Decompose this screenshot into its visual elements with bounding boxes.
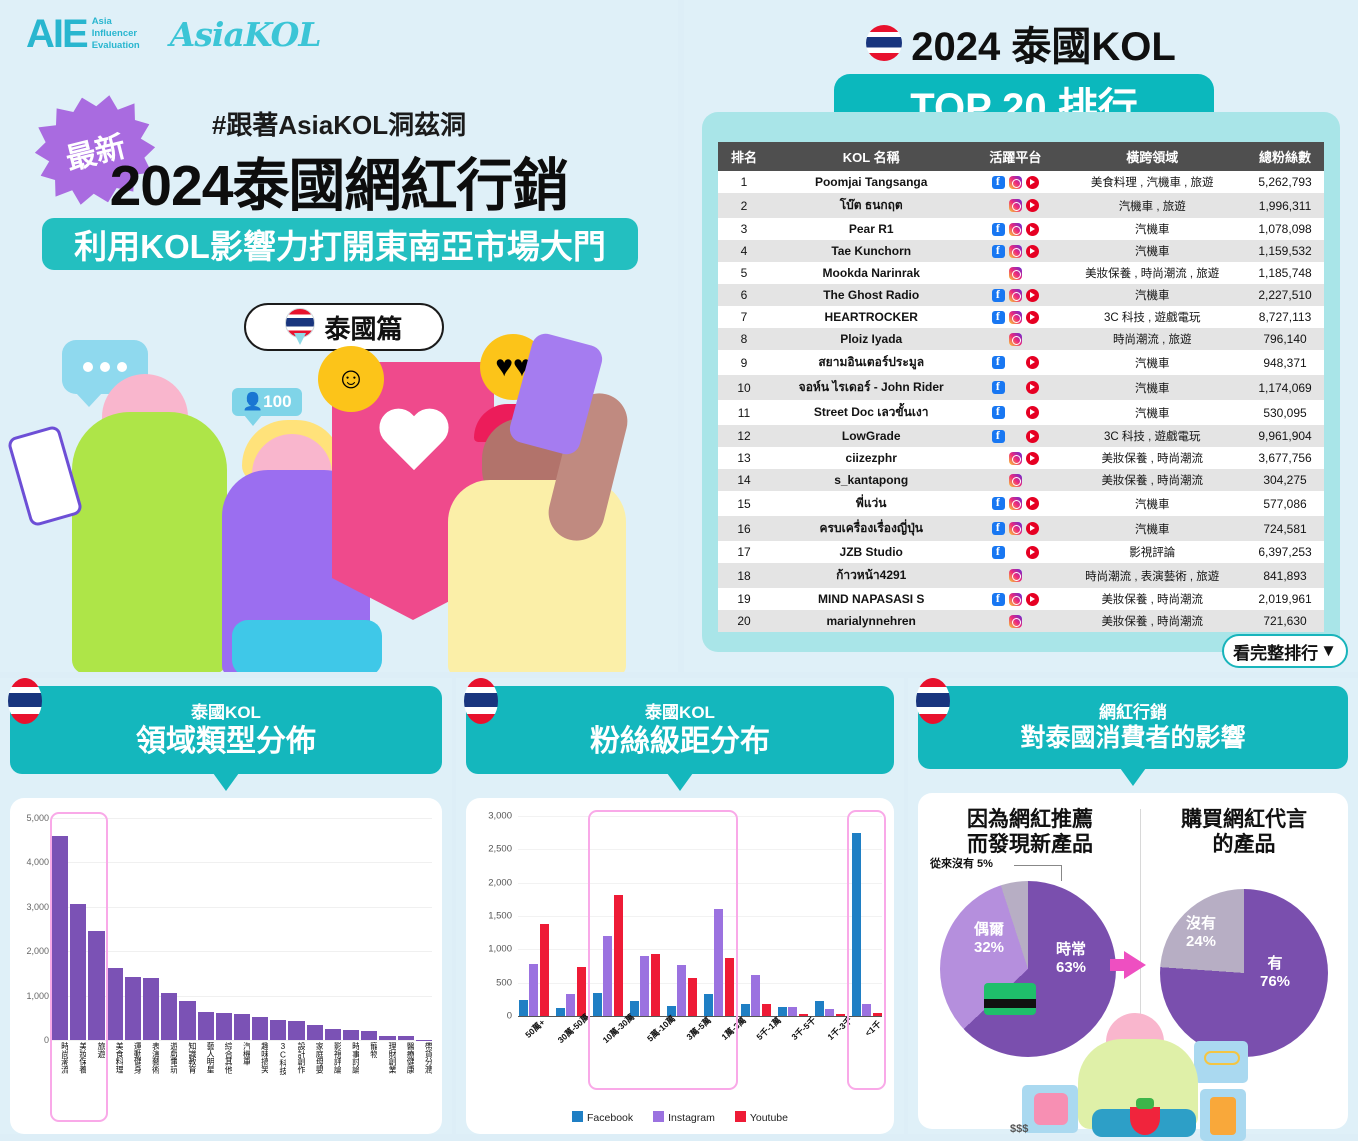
chart1-bar bbox=[52, 836, 68, 1040]
page-title: 2024泰國網紅行銷 bbox=[0, 140, 678, 222]
chart1-x-labels: 時尚潮流美妝保養旅遊美食料理運動健身表演藝術遊戲電玩知識教育藝人明星綜合其他汽機… bbox=[52, 1042, 432, 1130]
instagram-icon bbox=[1009, 497, 1022, 510]
youtube-icon bbox=[1026, 381, 1039, 394]
cell-platforms bbox=[972, 375, 1058, 400]
facebook-icon bbox=[992, 381, 1005, 394]
table-row[interactable]: 1Poomjai Tangsanga美食料理 , 汽機車 , 旅遊5,262,7… bbox=[718, 171, 1324, 193]
pie2-main-label-value: 76% bbox=[1248, 973, 1302, 991]
pie2-title-line1: 購買網紅代言 bbox=[1146, 807, 1342, 833]
cell-domains: 3C 科技 , 遊戲電玩 bbox=[1058, 425, 1246, 447]
chart2-y-tick: 500 bbox=[496, 977, 512, 988]
cell-rank: 9 bbox=[718, 350, 770, 375]
facebook-icon bbox=[992, 223, 1005, 236]
chart1-bar bbox=[398, 1036, 414, 1040]
instagram-icon bbox=[1009, 245, 1022, 258]
chart1-bar bbox=[361, 1031, 377, 1040]
cell-rank: 19 bbox=[718, 588, 770, 610]
pie2-second-label: 沒有 24% bbox=[1170, 915, 1232, 952]
pie1-main-label-value: 63% bbox=[1036, 959, 1106, 977]
chart2-y-tick: 1,500 bbox=[488, 911, 512, 922]
cell-followers: 796,140 bbox=[1246, 328, 1324, 350]
card3-header: 網紅行銷 對泰國消費者的影響 bbox=[918, 686, 1348, 769]
chart1-x-label: 家庭母嬰 bbox=[307, 1042, 323, 1130]
col-domains: 橫跨領域 bbox=[1058, 142, 1246, 171]
cell-rank: 17 bbox=[718, 541, 770, 563]
chart2-y-tick: 2,500 bbox=[488, 844, 512, 855]
chart2-bar bbox=[529, 964, 538, 1016]
table-row[interactable]: 7HEARTROCKER3C 科技 , 遊戲電玩8,727,113 bbox=[718, 306, 1324, 328]
instagram-icon bbox=[1009, 452, 1022, 465]
table-row[interactable]: 19MIND NAPASASI S美妝保養 , 時尚潮流2,019,961 bbox=[718, 588, 1324, 610]
table-row[interactable]: 8Ploiz Iyada時尚潮流 , 旅遊796,140 bbox=[718, 328, 1324, 350]
hero-illustration: 👤100 ☺ ♥♥ bbox=[0, 352, 678, 672]
cell-platforms bbox=[972, 400, 1058, 425]
cell-rank: 7 bbox=[718, 306, 770, 328]
cell-rank: 14 bbox=[718, 469, 770, 491]
chart1-bar bbox=[379, 1036, 395, 1040]
instagram-icon bbox=[1009, 474, 1022, 487]
chart2-legend-item: Youtube bbox=[735, 1111, 788, 1124]
cell-platforms bbox=[972, 284, 1058, 306]
cell-domains: 美妝保養 , 時尚潮流 bbox=[1058, 588, 1246, 610]
table-row[interactable]: 16ครบเครื่องเรื่องญี่ปุ่น汽機車724,581 bbox=[718, 516, 1324, 541]
youtube-icon bbox=[1026, 245, 1039, 258]
facebook-icon bbox=[992, 199, 1005, 212]
chart1-x-label: 影視評論 bbox=[325, 1042, 341, 1130]
chart1-x-label: 汽機車 bbox=[234, 1042, 250, 1130]
youtube-icon bbox=[1026, 474, 1039, 487]
chart1-y-axis: 01,0002,0003,0004,0005,000 bbox=[10, 818, 52, 1040]
cell-domains: 汽機車 bbox=[1058, 350, 1246, 375]
card1-title: 領域類型分佈 bbox=[18, 725, 434, 758]
card2-subtitle: 泰國KOL bbox=[474, 698, 886, 723]
cell-domains: 3C 科技 , 遊戲電玩 bbox=[1058, 306, 1246, 328]
cell-followers: 1,174,069 bbox=[1246, 375, 1324, 400]
cell-domains: 汽機車 bbox=[1058, 218, 1246, 240]
aie-logo: AIE Asia Influencer Evaluation bbox=[26, 14, 140, 54]
chart2-bar bbox=[751, 975, 760, 1016]
cell-platforms bbox=[972, 469, 1058, 491]
table-row[interactable]: 13ciizezphr美妝保養 , 時尚潮流3,677,756 bbox=[718, 447, 1324, 469]
instagram-icon bbox=[1009, 356, 1022, 369]
cell-rank: 1 bbox=[718, 171, 770, 193]
chart2-y-tick: 3,000 bbox=[488, 811, 512, 822]
table-header-row: 排名 KOL 名稱 活躍平台 橫跨領域 總粉絲數 bbox=[718, 142, 1324, 171]
consumer-impact-card: 網紅行銷 對泰國消費者的影響 因為網紅推薦 而發現新產品 購買網紅代言 的產品 … bbox=[908, 678, 1358, 1134]
chart1-bar bbox=[161, 993, 177, 1040]
chart1-plot-area bbox=[52, 818, 432, 1040]
thailand-flag-icon bbox=[866, 25, 902, 61]
ranking-table-body: 1Poomjai Tangsanga美食料理 , 汽機車 , 旅遊5,262,7… bbox=[718, 171, 1324, 632]
youtube-icon bbox=[1026, 452, 1039, 465]
chart1-gridline bbox=[52, 1040, 432, 1041]
pie2-second-label-text: 沒有 bbox=[1170, 915, 1232, 933]
ranking-panel: 2024 泰國KOL TOP 20 排行 排名 KOL 名稱 活躍平台 橫跨領域… bbox=[684, 0, 1358, 672]
chart1-x-label: 藝人明星 bbox=[198, 1042, 214, 1130]
cell-rank: 13 bbox=[718, 447, 770, 469]
chart1-x-label: 遊戲電玩 bbox=[161, 1042, 177, 1130]
chart1-x-label: 綜合其他 bbox=[216, 1042, 232, 1130]
card3-subtitle: 網紅行銷 bbox=[926, 698, 1340, 723]
thailand-flag-icon bbox=[464, 678, 498, 724]
cell-rank: 4 bbox=[718, 240, 770, 262]
card3-arrow bbox=[1120, 768, 1146, 786]
cell-followers: 841,893 bbox=[1246, 563, 1324, 588]
asiakol-logo: AsiaKOL bbox=[170, 15, 321, 54]
cell-name: MIND NAPASASI S bbox=[770, 588, 972, 610]
chart1-x-label: 醫療健康 bbox=[398, 1042, 414, 1130]
cell-domains: 汽機車 bbox=[1058, 375, 1246, 400]
table-row[interactable]: 17JZB Studio影視評論6,397,253 bbox=[718, 541, 1324, 563]
chart2-legend-item: Facebook bbox=[572, 1111, 633, 1124]
pie1-title-line1: 因為網紅推薦 bbox=[932, 807, 1128, 833]
chart2-bar bbox=[677, 965, 686, 1016]
table-row[interactable]: 10จอห์น ไรเดอร์ - John Rider汽機車1,174,069 bbox=[718, 375, 1324, 400]
table-row[interactable]: 6The Ghost Radio汽機車2,227,510 bbox=[718, 284, 1324, 306]
cell-domains: 美妝保養 , 時尚潮流 , 旅遊 bbox=[1058, 262, 1246, 284]
cell-followers: 577,086 bbox=[1246, 491, 1324, 516]
pie1-never-callout: 從來沒有 5% bbox=[930, 855, 993, 871]
facebook-icon bbox=[992, 406, 1005, 419]
table-row[interactable]: 14s_kantapong美妝保養 , 時尚潮流304,275 bbox=[718, 469, 1324, 491]
cell-platforms bbox=[972, 425, 1058, 447]
chart1-x-label: 旅遊 bbox=[88, 1042, 104, 1130]
credit-card-icon bbox=[984, 983, 1036, 1015]
cell-platforms bbox=[972, 541, 1058, 563]
cell-followers: 721,630 bbox=[1246, 610, 1324, 632]
chart2-y-tick: 1,000 bbox=[488, 944, 512, 955]
chart2-group bbox=[740, 816, 771, 1016]
cell-domains: 影視評論 bbox=[1058, 541, 1246, 563]
cell-followers: 1,078,098 bbox=[1246, 218, 1324, 240]
legend-swatch bbox=[653, 1111, 664, 1122]
cell-name: ครบเครื่องเรื่องญี่ปุ่น bbox=[770, 516, 972, 541]
cell-rank: 15 bbox=[718, 491, 770, 516]
chart1-x-label: 時事討論 bbox=[343, 1042, 359, 1130]
instagram-icon bbox=[1009, 267, 1022, 280]
facebook-icon bbox=[992, 333, 1005, 346]
cell-name: JZB Studio bbox=[770, 541, 972, 563]
cell-followers: 724,581 bbox=[1246, 516, 1324, 541]
table-row[interactable]: 11Street Doc เลวขั้นเงา汽機車530,095 bbox=[718, 400, 1324, 425]
smiley-emoji-icon: ☺ bbox=[318, 346, 384, 412]
facebook-icon bbox=[992, 593, 1005, 606]
table-row[interactable]: 12LowGrade3C 科技 , 遊戲電玩9,961,904 bbox=[718, 425, 1324, 447]
chart2-legend: FacebookInstagramYoutube bbox=[466, 1111, 894, 1124]
chart1-bar bbox=[107, 968, 123, 1040]
card1-subtitle: 泰國KOL bbox=[18, 698, 434, 723]
chart1-bar bbox=[307, 1025, 323, 1040]
thailand-flag-icon bbox=[916, 678, 950, 724]
youtube-icon bbox=[1026, 497, 1039, 510]
region-pill: 泰國篇 bbox=[244, 303, 444, 351]
transition-arrow-icon bbox=[1124, 951, 1146, 979]
table-row[interactable]: 4Tae Kunchorn汽機車1,159,532 bbox=[718, 240, 1324, 262]
chart2-group bbox=[666, 816, 697, 1016]
cell-followers: 948,371 bbox=[1246, 350, 1324, 375]
chart2-y-axis: 05001,0001,5002,0002,5003,000 bbox=[466, 816, 516, 1016]
chart2-group bbox=[814, 816, 845, 1016]
cell-rank: 11 bbox=[718, 400, 770, 425]
chart2-plot-area bbox=[518, 816, 882, 1016]
chart1-bar bbox=[88, 931, 104, 1040]
cell-rank: 8 bbox=[718, 328, 770, 350]
cell-domains: 美食料理 , 汽機車 , 旅遊 bbox=[1058, 171, 1246, 193]
chart2-bar bbox=[519, 1000, 528, 1016]
chart1-y-tick: 3,000 bbox=[26, 902, 49, 912]
pie2-title-line2: 的產品 bbox=[1146, 832, 1342, 858]
table-row[interactable]: 18ก้าวหน้า4291時尚潮流 , 表演藝術 , 旅遊841,893 bbox=[718, 563, 1324, 588]
cell-domains: 汽機車 bbox=[1058, 516, 1246, 541]
card3-title: 對泰國消費者的影響 bbox=[926, 725, 1340, 753]
cell-name: The Ghost Radio bbox=[770, 284, 972, 306]
instagram-icon bbox=[1009, 546, 1022, 559]
facebook-icon bbox=[992, 289, 1005, 302]
cell-followers: 2,019,961 bbox=[1246, 588, 1324, 610]
facebook-icon bbox=[992, 474, 1005, 487]
youtube-icon bbox=[1026, 267, 1039, 280]
pie1-callout-leader-line bbox=[1014, 865, 1062, 881]
chart1-bar bbox=[125, 977, 141, 1040]
person2-jeans bbox=[232, 620, 382, 672]
cell-name: marialynnehren bbox=[770, 610, 972, 632]
pie1-main-label: 時常 63% bbox=[1036, 941, 1106, 978]
chevron-down-icon: ▼ bbox=[1320, 641, 1337, 661]
aie-word-asia: Asia bbox=[92, 16, 140, 28]
card2-arrow bbox=[667, 773, 693, 791]
chart1-x-label: 趣味搞笑 bbox=[252, 1042, 268, 1130]
col-rank: 排名 bbox=[718, 142, 770, 171]
heart-icon bbox=[376, 410, 452, 480]
chart3-plot: 因為網紅推薦 而發現新產品 購買網紅代言 的產品 從來沒有 5% 時常 63% … bbox=[918, 793, 1348, 1129]
chart2-bar bbox=[593, 993, 602, 1016]
instagram-icon bbox=[1009, 522, 1022, 535]
instagram-icon bbox=[1009, 430, 1022, 443]
youtube-icon bbox=[1026, 176, 1039, 189]
chart1-y-tick: 5,000 bbox=[26, 813, 49, 823]
chart2-bar bbox=[714, 909, 723, 1016]
chart2-bar bbox=[862, 1004, 871, 1016]
ranking-title: 2024 泰國KOL bbox=[911, 14, 1176, 72]
cell-rank: 20 bbox=[718, 610, 770, 632]
chart2-bar bbox=[640, 956, 649, 1016]
cell-platforms bbox=[972, 491, 1058, 516]
pie1-second-label-text: 偶爾 bbox=[956, 921, 1022, 939]
youtube-icon bbox=[1026, 289, 1039, 302]
youtube-icon bbox=[1026, 522, 1039, 535]
cell-name: ciizezphr bbox=[770, 447, 972, 469]
ranking-title-row: 2024 泰國KOL bbox=[684, 14, 1358, 72]
chart1-x-label: 3C科技 bbox=[270, 1042, 286, 1130]
chart2-y-tick: 2,000 bbox=[488, 877, 512, 888]
youtube-icon bbox=[1026, 311, 1039, 324]
pie2-main-label-text: 有 bbox=[1248, 955, 1302, 973]
chart2-bar bbox=[788, 1007, 797, 1016]
instagram-icon bbox=[1009, 333, 1022, 346]
youtube-icon bbox=[1026, 430, 1039, 443]
instagram-icon bbox=[1009, 223, 1022, 236]
cell-platforms bbox=[972, 240, 1058, 262]
cell-domains: 汽機車 bbox=[1058, 491, 1246, 516]
instagram-icon bbox=[1009, 406, 1022, 419]
chart1-x-label: 美食料理 bbox=[107, 1042, 123, 1130]
cell-domains: 美妝保養 , 時尚潮流 bbox=[1058, 447, 1246, 469]
chart1-x-label: 美妝保養 bbox=[70, 1042, 86, 1130]
chart1-bar bbox=[70, 904, 86, 1040]
instagram-icon bbox=[1009, 381, 1022, 394]
money-label: $$$ bbox=[1010, 1123, 1028, 1135]
hero-hashtag: #跟著AsiaKOL洞茲洞 bbox=[0, 105, 678, 142]
facebook-icon bbox=[992, 546, 1005, 559]
full-ranking-label: 看完整排行 bbox=[1233, 639, 1318, 664]
youtube-icon bbox=[1026, 615, 1039, 628]
chart2-bar bbox=[651, 954, 660, 1016]
aie-word-evaluation: Evaluation bbox=[92, 40, 140, 52]
ranking-table: 排名 KOL 名稱 活躍平台 橫跨領域 總粉絲數 1Poomjai Tangsa… bbox=[718, 142, 1324, 632]
cell-name: LowGrade bbox=[770, 425, 972, 447]
table-row[interactable]: 5Mookda Narinrak美妝保養 , 時尚潮流 , 旅遊1,185,74… bbox=[718, 262, 1324, 284]
chart2-bar bbox=[815, 1001, 824, 1016]
chart2-x-labels: 50萬+30萬-50萬10萬-30萬5萬-10萬3萬-5萬1萬-3萬5千-1萬3… bbox=[518, 1020, 882, 1078]
facebook-icon bbox=[992, 176, 1005, 189]
chart1-bar bbox=[234, 1014, 250, 1040]
cell-name: Mookda Narinrak bbox=[770, 262, 972, 284]
cell-followers: 9,961,904 bbox=[1246, 425, 1324, 447]
cell-name: โบ๊ต ธนกฤต bbox=[770, 193, 972, 218]
pie2-title: 購買網紅代言 的產品 bbox=[1146, 807, 1342, 858]
follower-count-chip: 👤100 bbox=[232, 388, 302, 416]
pie1-title: 因為網紅推薦 而發現新產品 bbox=[932, 807, 1128, 858]
chart1-y-tick: 1,000 bbox=[26, 991, 49, 1001]
cell-rank: 5 bbox=[718, 262, 770, 284]
thailand-flag-icon bbox=[8, 678, 42, 724]
chart2-group bbox=[851, 816, 882, 1016]
cell-followers: 530,095 bbox=[1246, 400, 1324, 425]
chart2-bar bbox=[566, 994, 575, 1016]
instagram-icon bbox=[1009, 593, 1022, 606]
cell-platforms bbox=[972, 262, 1058, 284]
region-pill-label: 泰國篇 bbox=[324, 309, 402, 346]
table-row[interactable]: 20marialynnehren美妝保養 , 時尚潮流721,630 bbox=[718, 610, 1324, 632]
aie-logo-mark: AIE bbox=[26, 14, 87, 54]
facebook-icon bbox=[992, 522, 1005, 535]
brand-logos: AIE Asia Influencer Evaluation AsiaKOL bbox=[26, 14, 321, 54]
cell-platforms bbox=[972, 563, 1058, 588]
youtube-icon bbox=[1026, 546, 1039, 559]
cell-followers: 3,677,756 bbox=[1246, 447, 1324, 469]
cell-followers: 5,262,793 bbox=[1246, 171, 1324, 193]
instagram-icon bbox=[1009, 311, 1022, 324]
chart2-group bbox=[629, 816, 660, 1016]
table-row[interactable]: 3Pear R1汽機車1,078,098 bbox=[718, 218, 1324, 240]
table-row[interactable]: 2โบ๊ต ธนกฤต汽機車 , 旅遊1,996,311 bbox=[718, 193, 1324, 218]
cell-rank: 12 bbox=[718, 425, 770, 447]
cell-name: s_kantapong bbox=[770, 469, 972, 491]
domain-distribution-card: 泰國KOL 領域類型分佈 01,0002,0003,0004,0005,000 … bbox=[0, 678, 452, 1134]
cell-platforms bbox=[972, 193, 1058, 218]
chart2-bar bbox=[741, 1004, 750, 1016]
cell-name: Poomjai Tangsanga bbox=[770, 171, 972, 193]
follower-tier-card: 泰國KOL 粉絲級距分布 05001,0001,5002,0002,5003,0… bbox=[456, 678, 904, 1134]
youtube-icon bbox=[1026, 593, 1039, 606]
instagram-icon bbox=[1009, 176, 1022, 189]
cell-name: ก้าวหน้า4291 bbox=[770, 563, 972, 588]
cell-followers: 6,397,253 bbox=[1246, 541, 1324, 563]
table-row[interactable]: 9สยามอินเตอร์ประมูล汽機車948,371 bbox=[718, 350, 1324, 375]
cell-domains: 美妝保養 , 時尚潮流 bbox=[1058, 469, 1246, 491]
instagram-icon bbox=[1009, 569, 1022, 582]
chart2-legend-item: Instagram bbox=[653, 1111, 715, 1124]
full-ranking-button[interactable]: 看完整排行 ▼ bbox=[1222, 634, 1348, 668]
cell-name: Street Doc เลวขั้นเงา bbox=[770, 400, 972, 425]
hero-panel: AIE Asia Influencer Evaluation AsiaKOL 最… bbox=[0, 0, 678, 672]
chart1-x-label: 寵物 bbox=[361, 1042, 377, 1130]
chart2-bar bbox=[778, 1007, 787, 1016]
chart2-bar bbox=[614, 895, 623, 1016]
cell-rank: 6 bbox=[718, 284, 770, 306]
cell-platforms bbox=[972, 447, 1058, 469]
cell-name: สยามอินเตอร์ประมูล bbox=[770, 350, 972, 375]
cell-name: Pear R1 bbox=[770, 218, 972, 240]
pie2-second-label-value: 24% bbox=[1170, 933, 1232, 951]
cell-platforms bbox=[972, 328, 1058, 350]
cell-name: HEARTROCKER bbox=[770, 306, 972, 328]
chart1-bar bbox=[198, 1012, 214, 1040]
cell-name: Tae Kunchorn bbox=[770, 240, 972, 262]
cell-platforms bbox=[972, 588, 1058, 610]
chart1-x-label: 理財創業 bbox=[379, 1042, 395, 1130]
chart2-group bbox=[518, 816, 549, 1016]
legend-swatch bbox=[572, 1111, 583, 1122]
col-followers: 總粉絲數 bbox=[1246, 142, 1324, 171]
youtube-icon bbox=[1026, 223, 1039, 236]
cell-followers: 8,727,113 bbox=[1246, 306, 1324, 328]
facebook-icon bbox=[992, 569, 1005, 582]
cell-rank: 18 bbox=[718, 563, 770, 588]
cell-domains: 汽機車 bbox=[1058, 400, 1246, 425]
glasses-icon bbox=[1204, 1051, 1240, 1065]
cell-domains: 美妝保養 , 時尚潮流 bbox=[1058, 610, 1246, 632]
pie1-second-label: 偶爾 32% bbox=[956, 921, 1022, 958]
chart2-bars bbox=[518, 816, 882, 1016]
cell-rank: 10 bbox=[718, 375, 770, 400]
facebook-icon bbox=[992, 497, 1005, 510]
chart1-bars bbox=[52, 818, 432, 1040]
table-row[interactable]: 15พี่แว่น汽機車577,086 bbox=[718, 491, 1324, 516]
instagram-icon bbox=[1009, 289, 1022, 302]
youtube-icon bbox=[1026, 333, 1039, 346]
cell-domains: 汽機車 bbox=[1058, 284, 1246, 306]
cell-domains: 汽機車 , 旅遊 bbox=[1058, 193, 1246, 218]
cell-followers: 2,227,510 bbox=[1246, 284, 1324, 306]
facebook-icon bbox=[992, 615, 1005, 628]
pie-charts: 因為網紅推薦 而發現新產品 購買網紅代言 的產品 從來沒有 5% 時常 63% … bbox=[918, 793, 1348, 1129]
instagram-icon bbox=[1009, 199, 1022, 212]
facebook-icon bbox=[992, 267, 1005, 280]
person1-phone-icon bbox=[6, 424, 83, 527]
youtube-icon bbox=[1026, 356, 1039, 369]
cell-followers: 304,275 bbox=[1246, 469, 1324, 491]
ranking-table-wrap: 排名 KOL 名稱 活躍平台 橫跨領域 總粉絲數 1Poomjai Tangsa… bbox=[702, 112, 1340, 652]
facebook-icon bbox=[992, 356, 1005, 369]
cell-platforms bbox=[972, 516, 1058, 541]
chart1-x-label: 設計創作 bbox=[288, 1042, 304, 1130]
pie1-main-label-text: 時常 bbox=[1036, 941, 1106, 959]
youtube-icon bbox=[1026, 406, 1039, 419]
chart1-y-tick: 2,000 bbox=[26, 946, 49, 956]
card1-arrow bbox=[213, 773, 239, 791]
chart2-group bbox=[703, 816, 734, 1016]
